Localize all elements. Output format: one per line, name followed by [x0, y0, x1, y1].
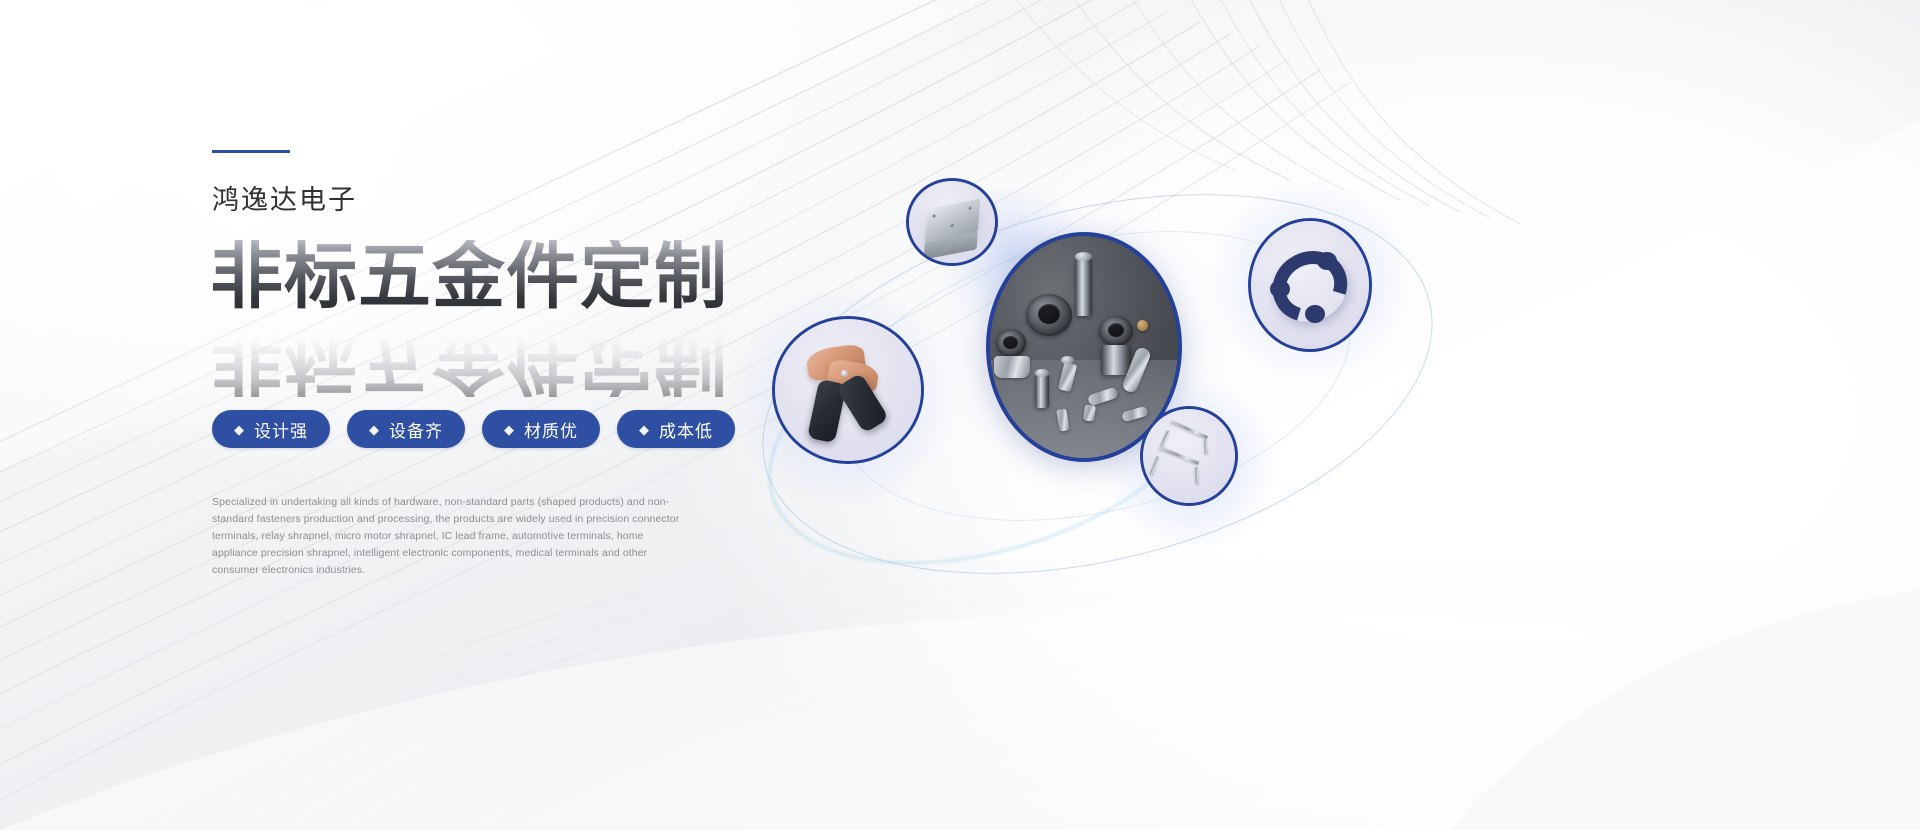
- accent-bar: [212, 150, 290, 153]
- product-circle-metal-enclosure[interactable]: metal enclosure box: [906, 178, 998, 266]
- diamond-icon: ◆: [504, 423, 515, 436]
- headline-reflection: 非标五金件定制: [210, 324, 728, 397]
- headline-wrapper: 非标五金件定制 非标五金件定制: [210, 240, 732, 372]
- feature-tag-label: 设计强: [254, 417, 308, 442]
- feature-tag-cost[interactable]: ◆ 成本低: [617, 410, 735, 448]
- feature-tag-label: 设备齐: [389, 417, 443, 442]
- feature-tag-design[interactable]: ◆ 设计强: [212, 410, 330, 448]
- product-showcase-graphic: metal enclosure box copper battery clamp…: [740, 120, 1890, 680]
- page-title: 非标五金件定制: [210, 240, 728, 313]
- feature-tag-label: 材质优: [524, 417, 578, 442]
- feature-tag-label: 成本低: [659, 417, 713, 442]
- feature-tag-material[interactable]: ◆ 材质优: [482, 410, 600, 448]
- hero-banner: 鸿逸达电子 非标五金件定制 非标五金件定制 ◆ 设计强 ◆ 设备齐 ◆ 材质优 …: [0, 0, 1920, 830]
- brand-name: 鸿逸达电子: [212, 187, 732, 214]
- company-description: Specialized in undertaking all kinds of …: [212, 494, 682, 579]
- feature-tag-equipment[interactable]: ◆ 设备齐: [347, 410, 465, 448]
- hero-text-block: 鸿逸达电子 非标五金件定制 非标五金件定制 ◆ 设计强 ◆ 设备齐 ◆ 材质优 …: [212, 150, 732, 579]
- diamond-icon: ◆: [639, 423, 650, 436]
- product-circle-bent-pins[interactable]: two bent metal terminal pins: [1140, 406, 1238, 506]
- diamond-icon: ◆: [234, 423, 245, 436]
- product-circle-battery-clamp[interactable]: copper battery clamp with black handles: [772, 316, 924, 464]
- diamond-icon: ◆: [369, 423, 380, 436]
- feature-tag-list: ◆ 设计强 ◆ 设备齐 ◆ 材质优 ◆ 成本低: [212, 410, 732, 448]
- product-circle-navy-c-ring[interactable]: navy blue C shaped bracket ring: [1248, 218, 1372, 352]
